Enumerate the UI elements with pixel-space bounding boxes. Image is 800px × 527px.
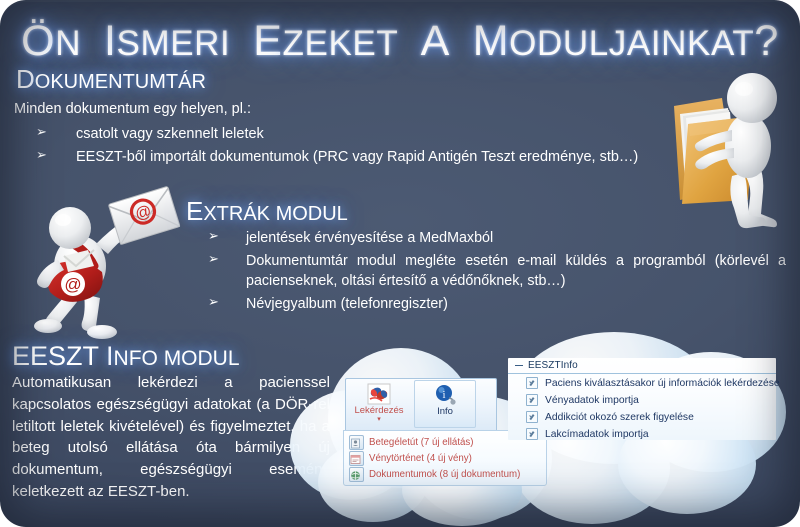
arrow-bullet-icon: ➢ (36, 123, 47, 141)
checkbox-label: Paciens kiválasztásakor új információk l… (545, 378, 780, 389)
checkbox-icon[interactable] (526, 394, 538, 406)
mail-carrier-figure: @ @ (18, 182, 193, 352)
arrow-bullet-icon: ➢ (36, 146, 47, 164)
svg-text:i: i (442, 389, 445, 401)
pills-icon (367, 383, 391, 405)
prescription-icon (349, 451, 364, 466)
ribbon-button-info[interactable]: i Info (414, 380, 476, 428)
page-title: ÖN ISMERI EZEKET A MODULJAINKAT? (0, 17, 800, 66)
svg-text:@: @ (64, 275, 81, 294)
list-item: ➢ jelentések érvényesítése a MedMaxból (186, 228, 786, 249)
checkbox-icon[interactable] (526, 377, 538, 389)
ribbon-button-label: Lekérdezés (348, 405, 410, 416)
list-item: ➢ Dokumentumtár modul megléte esetén e-m… (186, 251, 786, 292)
list-item: ➢ csatolt vagy szkennelt leletek (14, 124, 784, 145)
checkbox-row-paciens[interactable]: Paciens kiválasztásakor új információk l… (508, 375, 776, 391)
ribbon-toolbar: Lekérdezés ▾ i Info (345, 378, 497, 431)
checkbox-row-lakcimadatok[interactable]: Lakcímadatok importja (508, 426, 776, 442)
checkbox-row-addikcio[interactable]: Addikciót okozó szerek figyelése (508, 409, 776, 425)
checkbox-label: Lakcímadatok importja (545, 429, 649, 440)
list-item: ➢ Névjegyalbum (telefonregiszter) (186, 294, 786, 315)
section-heading-extrak-modul: EXTRÁK MODUL (186, 196, 348, 227)
checkbox-icon[interactable] (526, 428, 538, 440)
checkbox-label: Vényadatok importja (545, 395, 639, 406)
list-item-label: jelentések érvényesítése a MedMaxból (246, 230, 493, 246)
section-heading-dokumentumtar: DOKUMENTUMTÁR (16, 64, 206, 95)
section-heading-eeszt-info-modul: EESZT INFO MODUL (12, 341, 240, 372)
list-item-label: EESZT-ből importált dokumentumok (PRC va… (76, 149, 638, 165)
patient-history-icon (349, 435, 364, 450)
slide-canvas: ÖN ISMERI EZEKET A MODULJAINKAT? Ön isme… (0, 0, 800, 527)
panel-title: EESZTInfo (528, 360, 578, 371)
dokumentumtar-lead: Minden dokumentum egy helyen, pl.: (14, 100, 251, 118)
info-circle-icon: i (433, 384, 457, 406)
checkbox-icon[interactable] (526, 411, 538, 423)
ribbon-button-label: Info (415, 406, 475, 417)
menu-item-label: Betegéletút (7 új ellátás) (369, 437, 473, 448)
panel-title-bar[interactable]: EESZTInfo (508, 358, 776, 374)
eeszt-info-settings-panel: EESZTInfo Paciens kiválasztásakor új inf… (508, 358, 776, 440)
minus-icon[interactable] (515, 362, 523, 370)
list-item-label: csatolt vagy szkennelt leletek (76, 126, 264, 142)
list-item: ➢ EESZT-ből importált dokumentumok (PRC … (14, 147, 784, 168)
list-item-label: Névjegyalbum (telefonregiszter) (246, 296, 448, 312)
arrow-bullet-icon: ➢ (208, 250, 219, 269)
chevron-down-icon[interactable]: ▾ (348, 416, 410, 423)
checkbox-row-venyadatok[interactable]: Vényadatok importja (508, 392, 776, 408)
eeszt-info-paragraph: Automatikusan lekérdezi a pacienssel kap… (12, 372, 330, 503)
list-item-label: Dokumentumtár modul megléte esetén e-mai… (246, 253, 786, 290)
extrak-modul-bullets: ➢ jelentések érvényesítése a MedMaxból ➢… (186, 228, 786, 317)
ribbon-button-lekerdezes[interactable]: Lekérdezés ▾ (348, 380, 410, 430)
menu-item-label: Vénytörténet (4 új vény) (369, 453, 472, 464)
documents-icon (349, 467, 364, 482)
arrow-bullet-icon: ➢ (208, 227, 219, 246)
menu-item-label: Dokumentumok (8 új dokumentum) (369, 469, 520, 480)
menu-item-venytortenet[interactable]: Vénytörténet (4 új vény) (344, 450, 546, 466)
checkbox-label: Addikciót okozó szerek figyelése (545, 412, 694, 423)
dokumentumtar-bullets: ➢ csatolt vagy szkennelt leletek ➢ EESZT… (14, 124, 784, 169)
menu-item-dokumentumok[interactable]: Dokumentumok (8 új dokumentum) (344, 466, 546, 482)
arrow-bullet-icon: ➢ (208, 293, 219, 312)
